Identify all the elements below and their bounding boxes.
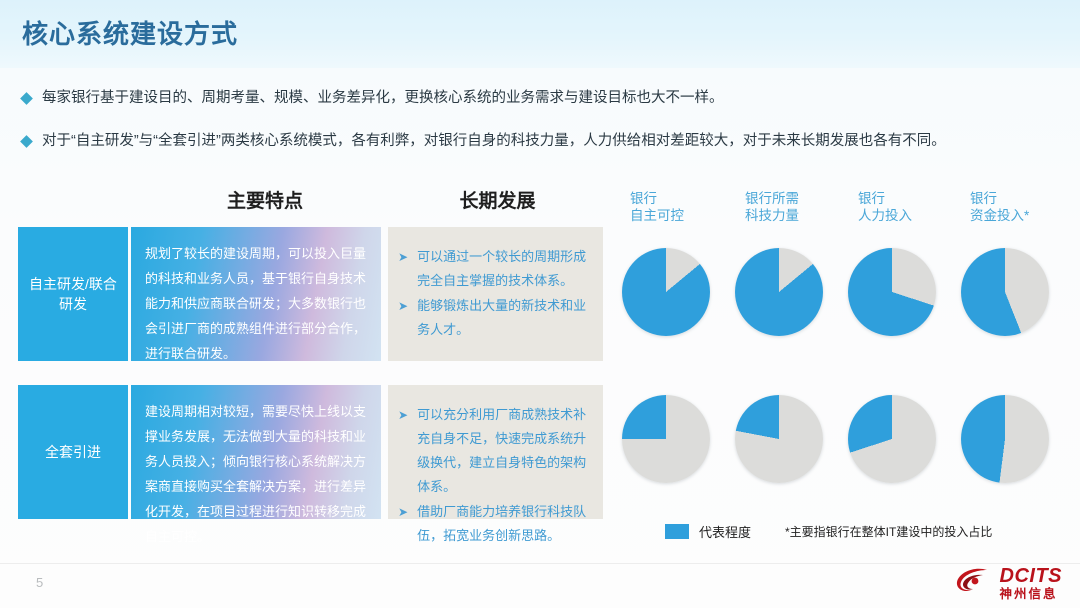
- bullet-item: 每家银行基于建设目的、周期考量、规模、业务差异化，更换核心系统的业务需求与建设目…: [22, 89, 724, 107]
- list-item-label: 能够锻炼出大量的新技术和业务人才。: [417, 294, 591, 342]
- column-heading-features: 主要特点: [150, 186, 380, 213]
- pie-column-heading: 银行 人力投入: [858, 190, 912, 224]
- arrow-bullet-icon: ➤: [398, 245, 408, 269]
- row-features-cell: 规划了较长的建设周期，可以投入巨量的科技和业务人员，基于银行自身技术能力和供应商…: [131, 227, 381, 361]
- list-item: ➤ 能够锻炼出大量的新技术和业务人才。: [398, 294, 591, 342]
- bullet-item: 对于“自主研发”与“全套引进”两类核心系统模式，各有利弊，对银行自身的科技力量，…: [22, 132, 946, 150]
- logo-subtitle: 神州信息: [1000, 588, 1063, 601]
- pie-chart: [622, 248, 710, 336]
- list-item-label: 可以通过一个较长的周期形成完全自主掌握的技术体系。: [417, 245, 591, 293]
- legend-color-swatch: [665, 524, 689, 539]
- pie-column-heading-line2: 科技力量: [745, 207, 799, 224]
- arrow-bullet-icon: ➤: [398, 294, 408, 318]
- dcits-swirl-icon: [953, 566, 993, 601]
- row-longterm-cell: ➤ 可以充分利用厂商成熟技术补充自身不足，快速完成系统升级换代，建立自身特色的架…: [388, 385, 603, 519]
- pie-chart: [848, 248, 936, 336]
- pie-column-heading: 银行 资金投入*: [970, 190, 1029, 224]
- legend-label: 代表程度: [699, 522, 751, 541]
- pie-column-heading-line2: 资金投入*: [970, 207, 1029, 224]
- footer-divider: [0, 563, 1080, 564]
- row-label-cell: 自主研发/联合研发: [18, 227, 128, 361]
- pie-column-heading-line2: 自主可控: [630, 207, 684, 224]
- pie-column-heading: 银行所需 科技力量: [745, 190, 799, 224]
- pie-chart: [622, 395, 710, 483]
- legend-footnote: *主要指银行在整体IT建设中的投入占比: [785, 523, 992, 540]
- page-number: 5: [36, 575, 43, 590]
- bullet-text: 对于“自主研发”与“全套引进”两类核心系统模式，各有利弊，对银行自身的科技力量，…: [42, 132, 946, 150]
- pie-column-heading: 银行 自主可控: [630, 190, 684, 224]
- row-label-cell: 全套引进: [18, 385, 128, 519]
- pie-chart: [848, 395, 936, 483]
- pie-column-heading-line1: 银行: [970, 190, 1029, 207]
- list-item-label: 可以充分利用厂商成熟技术补充自身不足，快速完成系统升级换代，建立自身特色的架构体…: [417, 403, 591, 499]
- list-item-label: 借助厂商能力培养银行科技队伍，拓宽业务创新思路。: [417, 500, 591, 548]
- row-longterm-cell: ➤ 可以通过一个较长的周期形成完全自主掌握的技术体系。 ➤ 能够锻炼出大量的新技…: [388, 227, 603, 361]
- pie-chart: [961, 395, 1049, 483]
- arrow-bullet-icon: ➤: [398, 500, 408, 524]
- pie-column-heading-line1: 银行所需: [745, 190, 799, 207]
- page-title: 核心系统建设方式: [22, 14, 238, 51]
- logo-name: DCITS: [1000, 566, 1063, 586]
- pie-column-heading-line2: 人力投入: [858, 207, 912, 224]
- list-item: ➤ 借助厂商能力培养银行科技队伍，拓宽业务创新思路。: [398, 500, 591, 548]
- arrow-bullet-icon: ➤: [398, 403, 408, 427]
- company-logo: DCITS 神州信息: [953, 566, 1063, 601]
- bullet-text: 每家银行基于建设目的、周期考量、规模、业务差异化，更换核心系统的业务需求与建设目…: [42, 89, 724, 107]
- logo-text: DCITS 神州信息: [1000, 566, 1063, 601]
- column-heading-longterm: 长期发展: [385, 186, 610, 213]
- diamond-bullet-icon: [20, 135, 33, 148]
- diamond-bullet-icon: [20, 92, 33, 105]
- list-item: ➤ 可以充分利用厂商成熟技术补充自身不足，快速完成系统升级换代，建立自身特色的架…: [398, 403, 591, 499]
- list-item: ➤ 可以通过一个较长的周期形成完全自主掌握的技术体系。: [398, 245, 591, 293]
- chart-legend: 代表程度 *主要指银行在整体IT建设中的投入占比: [665, 522, 992, 541]
- pie-column-heading-line1: 银行: [858, 190, 912, 207]
- pie-chart: [961, 248, 1049, 336]
- pie-chart: [735, 248, 823, 336]
- pie-column-heading-line1: 银行: [630, 190, 684, 207]
- row-features-cell: 建设周期相对较短，需要尽快上线以支撑业务发展，无法做到大量的科技和业务人员投入；…: [131, 385, 381, 519]
- pie-chart: [735, 395, 823, 483]
